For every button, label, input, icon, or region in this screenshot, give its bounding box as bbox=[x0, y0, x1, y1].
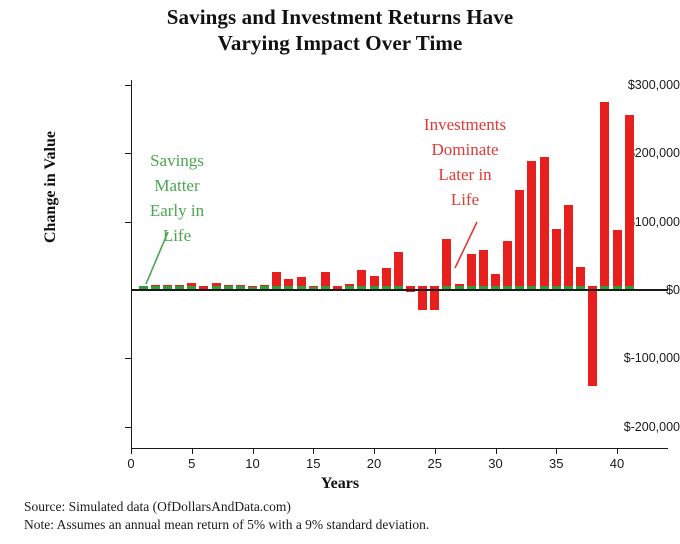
x-axis-tick-label: 40 bbox=[597, 456, 637, 471]
x-axis-tick-mark bbox=[192, 448, 193, 454]
x-axis-title: Years bbox=[0, 475, 680, 493]
bar-segment-returns bbox=[345, 284, 354, 286]
x-axis-tick-mark bbox=[556, 448, 557, 454]
bar-segment-returns bbox=[175, 285, 184, 286]
bar-segment-returns bbox=[224, 285, 233, 286]
bar-segment-returns bbox=[491, 274, 500, 286]
footnote-source: Source: Simulated data (OfDollarsAndData… bbox=[24, 498, 429, 516]
bar-segment-returns bbox=[272, 272, 281, 286]
bar-segment-returns bbox=[613, 230, 622, 286]
bar-segment-returns bbox=[370, 276, 379, 286]
x-axis-tick-label: 20 bbox=[354, 456, 394, 471]
chart-title-line-1: Savings and Investment Returns Have bbox=[0, 4, 680, 30]
bar-segment-returns bbox=[600, 102, 609, 286]
x-axis-tick-mark bbox=[374, 448, 375, 454]
bar-segment-returns bbox=[552, 229, 561, 286]
bar-segment-returns bbox=[260, 285, 269, 286]
x-axis-tick-mark bbox=[131, 448, 132, 454]
bar-segment-returns bbox=[187, 283, 196, 286]
bar-segment-returns bbox=[236, 285, 245, 286]
x-axis-tick-label: 0 bbox=[111, 456, 151, 471]
annotation-line: Savings bbox=[122, 148, 232, 173]
x-axis-tick-label: 30 bbox=[476, 456, 516, 471]
y-axis-tick-mark bbox=[125, 85, 131, 86]
x-axis-tick-label: 25 bbox=[415, 456, 455, 471]
footnote-note: Note: Assumes an annual mean return of 5… bbox=[24, 516, 429, 534]
annotation-investments: InvestmentsDominateLater inLife bbox=[390, 112, 540, 212]
bar-segment-returns bbox=[284, 279, 293, 286]
bar-segment-returns bbox=[503, 241, 512, 286]
bar-segment-returns bbox=[394, 252, 403, 286]
bar-segment-returns bbox=[248, 286, 257, 287]
bar-segment-returns bbox=[588, 286, 597, 386]
y-axis-tick-mark bbox=[125, 358, 131, 359]
x-axis-tick-label: 5 bbox=[172, 456, 212, 471]
annotation-line: Investments bbox=[390, 112, 540, 137]
bar-segment-returns bbox=[455, 284, 464, 286]
x-axis-tick-mark bbox=[617, 448, 618, 454]
bar-segment-returns bbox=[297, 277, 306, 286]
x-axis-tick-label: 10 bbox=[233, 456, 273, 471]
chart-title: Savings and Investment Returns Have Vary… bbox=[0, 4, 680, 56]
x-axis-tick-mark bbox=[496, 448, 497, 454]
bar-segment-returns bbox=[467, 254, 476, 285]
bar-segment-returns bbox=[163, 285, 172, 286]
bar-segment-returns bbox=[309, 286, 318, 287]
x-axis-tick-mark bbox=[253, 448, 254, 454]
chart-figure: Savings and Investment Returns Have Vary… bbox=[0, 0, 680, 544]
bar-segment-returns bbox=[540, 157, 549, 286]
bar-segment-returns bbox=[576, 267, 585, 286]
bar-segment-returns bbox=[442, 239, 451, 286]
x-axis-line bbox=[131, 448, 668, 449]
bar-segment-returns bbox=[479, 250, 488, 286]
y-axis-tick-mark bbox=[125, 427, 131, 428]
bar-segment-returns bbox=[382, 268, 391, 286]
bar-segment-returns bbox=[212, 283, 221, 286]
annotation-line: Later in bbox=[390, 162, 540, 187]
bar-segment-returns bbox=[151, 285, 160, 286]
annotation-line: Life bbox=[390, 187, 540, 212]
y-axis-title: Change in Value bbox=[42, 87, 60, 287]
bar-segment-returns bbox=[321, 272, 330, 286]
footnotes: Source: Simulated data (OfDollarsAndData… bbox=[24, 498, 429, 534]
x-axis-tick-mark bbox=[435, 448, 436, 454]
annotation-line: Early in bbox=[122, 198, 232, 223]
annotation-savings: SavingsMatterEarly inLife bbox=[122, 148, 232, 248]
annotation-line: Life bbox=[122, 223, 232, 248]
x-axis-tick-label: 15 bbox=[293, 456, 333, 471]
x-axis-tick-label: 35 bbox=[536, 456, 576, 471]
bar-segment-returns bbox=[625, 115, 634, 286]
annotation-line: Matter bbox=[122, 173, 232, 198]
bar-segment-returns bbox=[357, 270, 366, 286]
chart-title-line-2: Varying Impact Over Time bbox=[0, 30, 680, 56]
zero-baseline bbox=[131, 289, 668, 291]
x-axis-tick-mark bbox=[313, 448, 314, 454]
bar-segment-returns bbox=[564, 205, 573, 286]
annotation-line: Dominate bbox=[390, 137, 540, 162]
